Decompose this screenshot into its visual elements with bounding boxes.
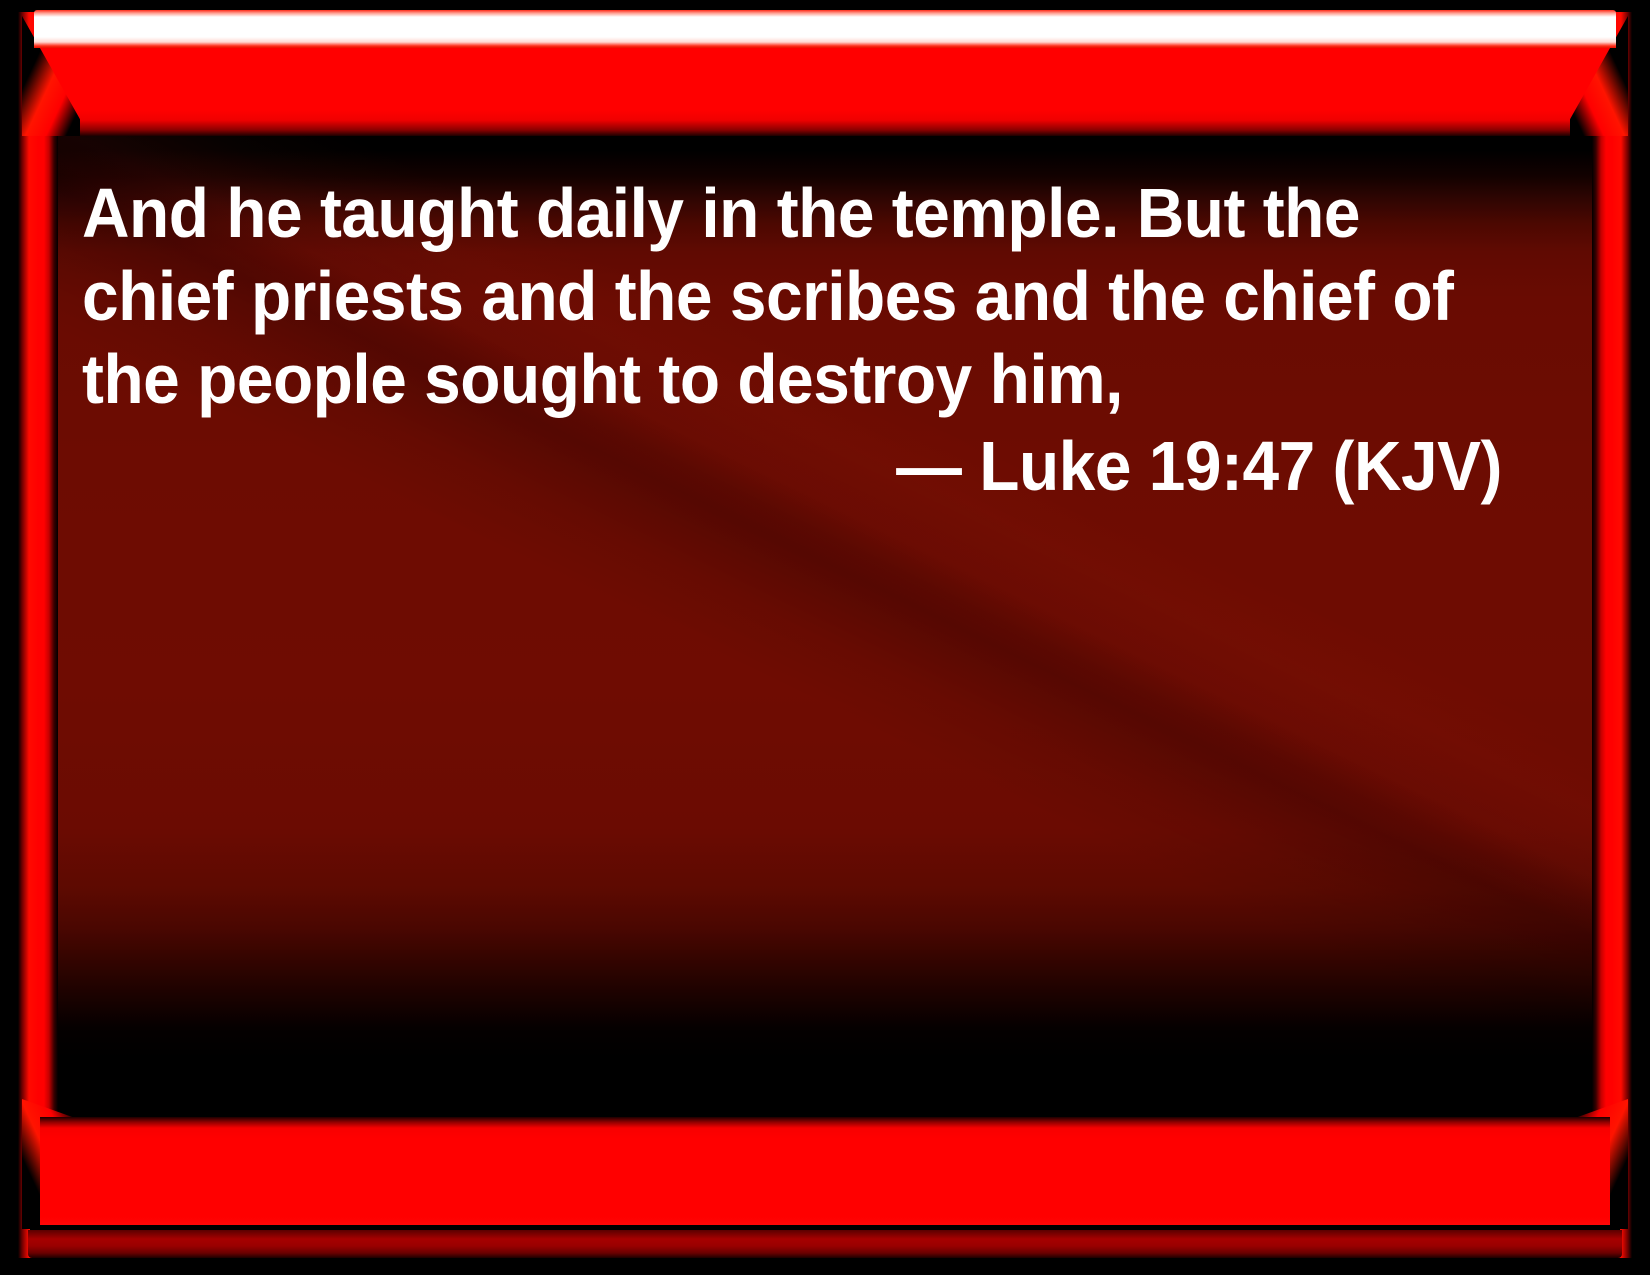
verse-line-1: And he taught daily in the temple. But t…	[82, 172, 1417, 255]
slide-content: And he taught daily in the temple. But t…	[0, 0, 1650, 1275]
verse-slide: And he taught daily in the temple. But t…	[0, 0, 1650, 1275]
verse-line-3: the people sought to destroy him,	[82, 338, 1417, 421]
verse-text-block: And he taught daily in the temple. But t…	[82, 172, 1502, 508]
verse-line-2: chief priests and the scribes and the ch…	[82, 255, 1417, 338]
verse-citation: — Luke 19:47 (KJV)	[167, 421, 1502, 508]
